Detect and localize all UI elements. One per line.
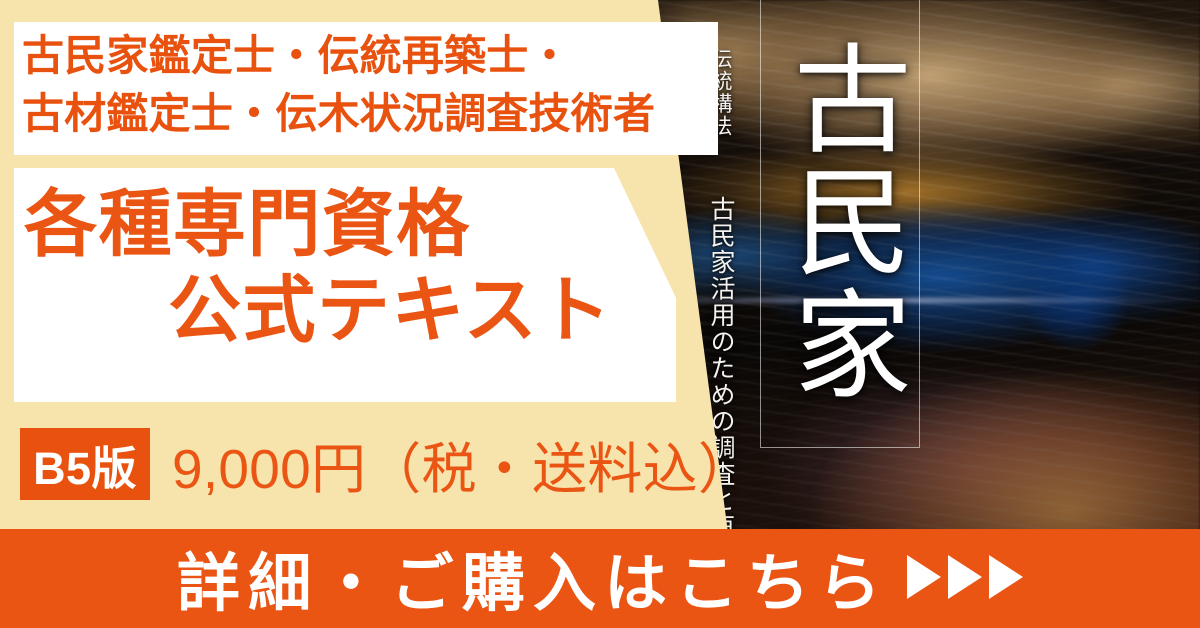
chevron-right-icon: [989, 555, 1023, 599]
promo-banner: 伝統構法 古民家活用のための調査と再生の 古民家 古民家鑑定士・伝統再築士・ 古…: [0, 0, 1200, 628]
qualifications-text: 古民家鑑定士・伝統再築士・ 古材鑑定士・伝木状況調査技術者: [22, 27, 722, 143]
book-cover-title: 古民家: [774, 38, 906, 406]
qualifications-line-2: 古材鑑定士・伝木状況調査技術者: [22, 85, 722, 143]
cta-label: 詳細・ご購入はこちら: [177, 533, 889, 624]
headline-line-2: 公式テキスト: [0, 268, 676, 354]
chevron-right-icon: [907, 555, 941, 599]
headline-line-1: 各種専門資格: [0, 182, 676, 268]
cta-arrows: [907, 555, 1023, 599]
format-badge: B5版: [20, 428, 150, 500]
cta-button[interactable]: 詳細・ご購入はこちら: [0, 529, 1200, 628]
price-row: B5版 9,000円（税・送料込）: [0, 424, 753, 504]
price-amount: 9,000円（税・送料込）: [172, 424, 753, 504]
chevron-right-icon: [948, 555, 982, 599]
qualifications-line-1: 古民家鑑定士・伝統再築士・: [22, 27, 722, 85]
headline-text: 各種専門資格 公式テキスト: [0, 182, 676, 354]
book-cover-title-frame: 古民家: [760, 0, 920, 448]
